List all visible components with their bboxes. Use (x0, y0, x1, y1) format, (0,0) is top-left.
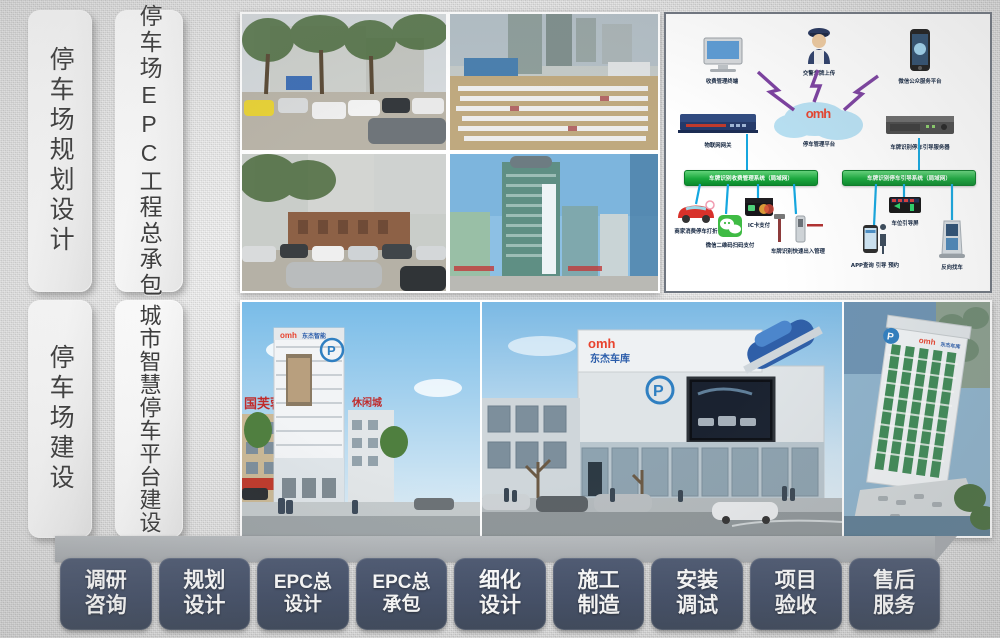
process-step-1[interactable]: 调研 咨询 (60, 558, 152, 630)
process-step-5-line2: 设计 (479, 594, 521, 619)
process-step-9[interactable]: 售后 服务 (849, 558, 941, 630)
process-step-3-line2: 设计 (284, 594, 322, 616)
svg-text:P: P (327, 343, 336, 358)
node-app-service: APP查询 引导 预约 (850, 224, 900, 270)
node-desktop-monitor-label: 收费管理终端 (688, 79, 756, 86)
sidebar-card-3[interactable]: 停车场建设 (28, 300, 92, 538)
process-step-4-line1: EPC总 (372, 572, 430, 594)
render-3-art: P omh 东杰车库 (844, 302, 990, 536)
svg-text:休闲城: 休闲城 (351, 396, 382, 409)
system-bar-guidance-label: 车牌识别停车引导系统（局域网） (867, 174, 951, 182)
render-2-art: omh 东杰车库 P (482, 302, 842, 536)
process-step-8[interactable]: 项目 验收 (750, 558, 842, 630)
traffic-police-icon (784, 26, 854, 66)
sidebar-card-1-label: 停车场规划设计 (47, 46, 73, 256)
node-guidance-screen: 车位引导屏 (880, 196, 930, 228)
process-step-8-line2: 验收 (775, 594, 817, 619)
cloud-brand-label: omh (790, 106, 846, 121)
process-step-1-line2: 咨询 (85, 594, 127, 619)
node-guidance-server: 车牌识别停车引导服务器 (862, 112, 978, 152)
svg-text:东杰车库: 东杰车库 (590, 352, 630, 365)
render-aerial-tower: P omh 东杰车库 (844, 302, 990, 536)
trunk-line-right (918, 138, 920, 170)
render-1-art: 国芙蓉 omh 东杰智能 P 休闲城 (242, 302, 480, 536)
sidebar-card-2[interactable]: 停车场EPC工程总承包 (115, 10, 183, 292)
process-step-5[interactable]: 细化 设计 (454, 558, 546, 630)
process-step-7[interactable]: 安装 调试 (651, 558, 743, 630)
photo-grid-panel (240, 12, 660, 293)
node-barrier-gate: 车牌识别快速出入管理 (770, 212, 826, 256)
photo-aerial-city (450, 14, 658, 150)
system-bar-charging: 车牌识别收费管理系统（局域网） (684, 170, 818, 186)
process-step-9-line2: 服务 (873, 594, 915, 619)
photo-4-art (450, 154, 658, 291)
sidebar-card-1[interactable]: 停车场规划设计 (28, 10, 92, 292)
photo-old-parking-lot (242, 154, 446, 291)
render-parking-tower: 国芙蓉 omh 东杰智能 P 休闲城 (242, 302, 480, 536)
render-strip-panel: 国芙蓉 omh 东杰智能 P 休闲城 (240, 300, 992, 538)
platform-label: 停车管理平台 (776, 142, 862, 149)
system-architecture-diagram: omh 停车管理平台 收费管理终端 交警车牌上传 微信公众服务平台 (664, 12, 992, 293)
photo-1-art (242, 14, 446, 150)
node-barrier-gate-label: 车牌识别快速出入管理 (770, 249, 826, 256)
photo-3-art (242, 154, 446, 291)
node-reverse-find-car: 反向找车 (926, 218, 978, 272)
process-step-6-line2: 制造 (578, 594, 620, 619)
node-guidance-server-label: 车牌识别停车引导服务器 (862, 145, 978, 152)
process-step-7-line1: 安装 (676, 569, 718, 594)
barrier-gate-icon (770, 212, 826, 244)
svg-text:东杰智能: 东杰智能 (302, 332, 326, 340)
photo-parking-lot-trees (242, 14, 446, 150)
svg-text:P: P (653, 383, 664, 400)
node-traffic-police-label: 交警车牌上传 (784, 71, 854, 78)
process-step-1-line1: 调研 (85, 569, 127, 594)
process-step-9-line1: 售后 (873, 569, 915, 594)
trunk-line-left (746, 134, 748, 170)
sidebar-card-4-label: 城市智慧停车平台建设 (137, 304, 160, 534)
node-wechat-platform: 微信公众服务平台 (874, 28, 966, 86)
process-step-2-line1: 规划 (183, 569, 225, 594)
node-traffic-police: 交警车牌上传 (784, 26, 854, 78)
process-step-3[interactable]: EPC总 设计 (257, 558, 349, 630)
process-step-2[interactable]: 规划 设计 (159, 558, 251, 630)
server-rack-icon (862, 112, 978, 140)
process-step-7-line2: 调试 (676, 594, 718, 619)
desktop-monitor-icon (688, 36, 756, 74)
system-bar-charging-label: 车牌识别收费管理系统（局域网） (709, 174, 793, 182)
node-wechat-platform-label: 微信公众服务平台 (874, 79, 966, 86)
process-step-2-line2: 设计 (183, 594, 225, 619)
sidebar-card-4[interactable]: 城市智慧停车平台建设 (115, 300, 183, 538)
smartphone-icon (874, 28, 966, 74)
process-step-4-line2: 承包 (382, 594, 420, 616)
svg-text:omh: omh (280, 331, 297, 340)
node-app-service-label: APP查询 引导 预约 (850, 263, 900, 270)
network-gateway-icon (674, 110, 762, 138)
node-iot-gateway-label: 物联网网关 (674, 143, 762, 150)
sidebar-card-3-label: 停车场建设 (47, 344, 73, 494)
process-step-6[interactable]: 施工 制造 (553, 558, 645, 630)
system-bar-guidance: 车牌识别停车引导系统（局域网） (842, 170, 976, 186)
process-step-3-line1: EPC总 (274, 572, 332, 594)
sidebar-card-2-label: 停车场EPC工程总承包 (137, 4, 161, 299)
process-step-4[interactable]: EPC总 承包 (356, 558, 448, 630)
node-iot-gateway: 物联网网关 (674, 110, 762, 150)
node-reverse-find-car-label: 反向找车 (926, 265, 978, 272)
guidance-screen-icon (880, 196, 930, 216)
process-step-8-line1: 项目 (775, 569, 817, 594)
photo-2-art (450, 14, 658, 150)
kiosk-icon (926, 218, 978, 260)
process-step-5-line1: 细化 (479, 569, 521, 594)
process-step-6-line1: 施工 (578, 569, 620, 594)
node-wechat-qr-label: 微信二维码扫码支付 (704, 243, 756, 250)
process-steps: 调研 咨询 规划 设计 EPC总 设计 EPC总 承包 细化 设计 施工 制造 … (60, 558, 940, 630)
photo-glass-tower (450, 154, 658, 291)
render-garage-building: omh 东杰车库 P (482, 302, 842, 536)
svg-text:omh: omh (588, 336, 616, 351)
app-phone-icon (850, 224, 900, 258)
node-desktop-monitor: 收费管理终端 (688, 36, 756, 86)
